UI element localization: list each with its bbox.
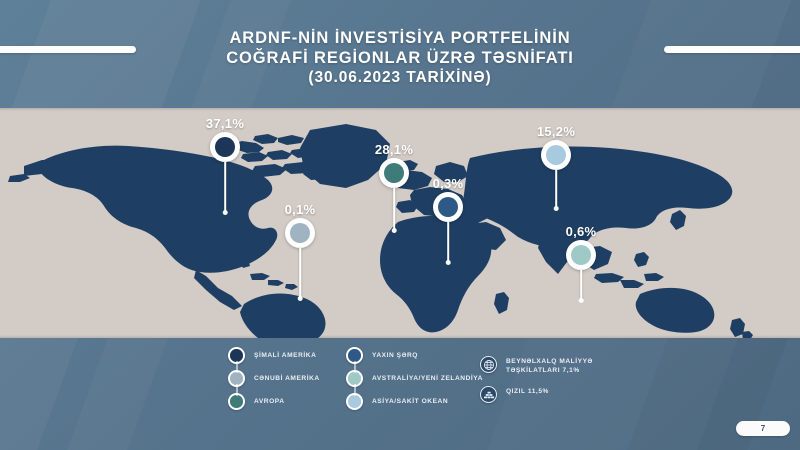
callout-value: 0,3% (433, 176, 464, 191)
legend-swatch (348, 372, 361, 385)
title-line-3: (30.06.2023 TARİXİNƏ) (0, 68, 800, 88)
slide-header: ARDNF-NİN İNVESTİSİYA PORTFELİNİN COĞRAF… (0, 0, 800, 110)
callout-stem (393, 188, 395, 230)
title-line-1: ARDNF-NİN İNVESTİSİYA PORTFELİNİN (0, 28, 800, 48)
callout-bubble (210, 132, 240, 162)
legend-connector (236, 361, 238, 373)
legend-label: ASİYA/SAKİT OKEAN (372, 398, 448, 405)
title-line-2: COĞRAFİ REGİONLAR ÜZRƏ TƏSNİFATI (0, 48, 800, 68)
legend-connector (354, 361, 356, 373)
page-number: 7 (761, 424, 765, 433)
legend-item-gold[interactable]: QIZIL 11,5% (480, 386, 593, 403)
callout-bubble (379, 158, 409, 188)
callout-value: 0,1% (285, 202, 316, 217)
callout-dot (571, 245, 591, 265)
callout-dot (290, 223, 310, 243)
callout-bubble (541, 140, 571, 170)
legend-label: AVSTRALİYA/YENİ ZELANDİYA (372, 375, 483, 382)
gold-bars-icon (480, 386, 497, 403)
callout-bubble (285, 218, 315, 248)
legend-label-line-1: QIZIL 11,5% (506, 387, 549, 396)
callout-stem (299, 248, 301, 298)
callout-value: 28,1% (375, 142, 413, 157)
callout-bubble (566, 240, 596, 270)
legend-label-line-2: TƏŞKİLATLARI 7,1% (506, 366, 593, 375)
callout-dot (215, 137, 235, 157)
legend-label: ŞİMALİ AMERİKA (254, 352, 316, 359)
callout-stem (224, 162, 226, 212)
legend-label-group: QIZIL 11,5% (506, 386, 549, 396)
page-title: ARDNF-NİN İNVESTİSİYA PORTFELİNİN COĞRAF… (0, 28, 800, 88)
legend-column-1: ŞİMALİ AMERİKA CƏNUBİ AMERİKA AVROPA (228, 344, 320, 413)
legend-label: YAXIN ŞƏRQ (372, 352, 418, 359)
legend-label-group: BEYNƏLXALQ MALİYYƏ TƏŞKİLATLARI 7,1% (506, 356, 593, 375)
legend-column-3: BEYNƏLXALQ MALİYYƏ TƏŞKİLATLARI 7,1% (480, 356, 593, 414)
globe-icon (480, 356, 497, 373)
legend-column-2: YAXIN ŞƏRQ AVSTRALİYA/YENİ ZELANDİYA ASİ… (346, 344, 483, 413)
callout-bubble (433, 192, 463, 222)
legend-swatch (230, 395, 243, 408)
callout-value: 37,1% (206, 116, 244, 131)
callout-stem (447, 222, 449, 262)
legend-item-south-america[interactable]: CƏNUBİ AMERİKA (228, 367, 320, 390)
callout-dot (384, 163, 404, 183)
legend: ŞİMALİ AMERİKA CƏNUBİ AMERİKA AVROPA (0, 344, 800, 430)
callout-dot (546, 145, 566, 165)
legend-label: AVROPA (254, 398, 285, 405)
legend-item-near-east[interactable]: YAXIN ŞƏRQ (346, 344, 483, 367)
legend-swatch (348, 395, 361, 408)
callout-dot (438, 197, 458, 217)
legend-connector (236, 384, 238, 396)
legend-swatch (348, 349, 361, 362)
legend-item-europe[interactable]: AVROPA (228, 390, 320, 413)
legend-label-line-1: BEYNƏLXALQ MALİYYƏ (506, 357, 593, 366)
legend-item-asia-pacific[interactable]: ASİYA/SAKİT OKEAN (346, 390, 483, 413)
legend-item-international-financial-orgs[interactable]: BEYNƏLXALQ MALİYYƏ TƏŞKİLATLARI 7,1% (480, 356, 593, 375)
page-number-pill: 7 (736, 421, 790, 436)
legend-label: CƏNUBİ AMERİKA (254, 375, 320, 382)
legend-item-north-america[interactable]: ŞİMALİ AMERİKA (228, 344, 320, 367)
callout-value: 15,2% (537, 124, 575, 139)
callout-stem (555, 170, 557, 208)
slide-root: ARDNF-NİN İNVESTİSİYA PORTFELİNİN COĞRAF… (0, 0, 800, 450)
callout-stem (580, 270, 582, 300)
legend-swatch (230, 349, 243, 362)
legend-connector (354, 384, 356, 396)
legend-swatch (230, 372, 243, 385)
legend-item-australia-nz[interactable]: AVSTRALİYA/YENİ ZELANDİYA (346, 367, 483, 390)
callout-value: 0,6% (566, 224, 597, 239)
